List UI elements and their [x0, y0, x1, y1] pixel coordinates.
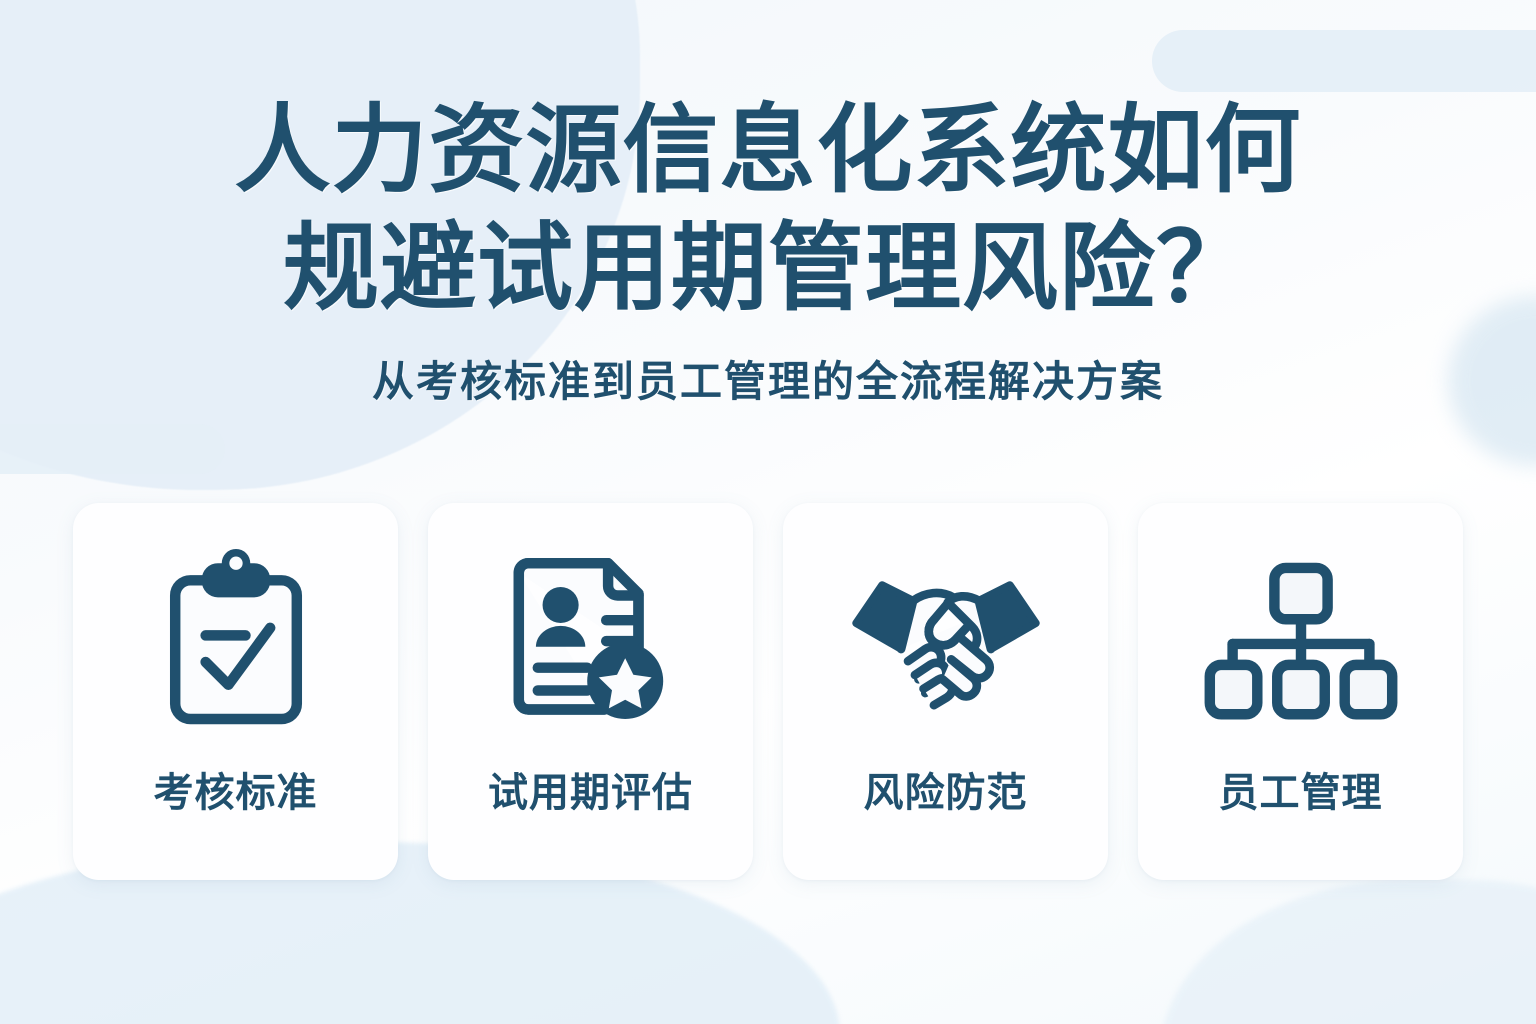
decor-pill-left: [0, 424, 225, 474]
feature-card-label: 风险防范: [864, 769, 1028, 817]
resume-star-icon: [496, 543, 686, 743]
org-chart-icon: [1206, 543, 1396, 743]
feature-card-employee-management[interactable]: 员工管理: [1138, 503, 1463, 880]
headline-block: 人力资源信息化系统如何 规避试用期管理风险？ 从考核标准到员工管理的全流程解决方…: [0, 92, 1536, 408]
clipboard-check-icon: [141, 543, 331, 743]
feature-card-assessment-standard[interactable]: 考核标准: [73, 503, 398, 880]
feature-card-label: 考核标准: [154, 769, 318, 817]
feature-card-row: 考核标准 试用期评估: [73, 503, 1463, 880]
decor-blob-bottom-right: [1160, 880, 1536, 1024]
feature-card-label: 试用期评估: [488, 769, 693, 817]
handshake-icon: [851, 543, 1041, 743]
feature-card-probation-evaluation[interactable]: 试用期评估: [428, 503, 753, 880]
poster-canvas: 人力资源信息化系统如何 规避试用期管理风险？ 从考核标准到员工管理的全流程解决方…: [0, 0, 1536, 1024]
feature-card-label: 员工管理: [1219, 769, 1383, 817]
decor-pill-top-right: [1152, 30, 1536, 92]
page-title-line-2: 规避试用期管理风险？: [0, 210, 1536, 328]
page-title-line-1: 人力资源信息化系统如何: [0, 92, 1536, 210]
feature-card-risk-prevention[interactable]: 风险防范: [783, 503, 1108, 880]
page-subtitle: 从考核标准到员工管理的全流程解决方案: [0, 356, 1536, 408]
